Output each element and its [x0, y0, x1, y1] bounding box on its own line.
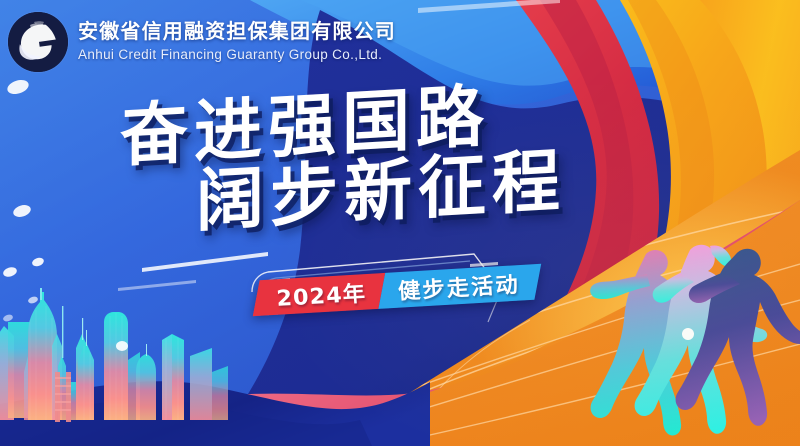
- company-name-en: Anhui Credit Financing Guaranty Group Co…: [78, 48, 396, 62]
- banner-activity-label: 健步走活动: [397, 267, 521, 306]
- event-poster: 安徽省信用融资担保集团有限公司 Anhui Credit Financing G…: [0, 0, 800, 446]
- anhui-guaranty-g-logo-icon: [8, 12, 68, 72]
- banner-year-label: 2024年: [275, 276, 366, 313]
- brand-lockup: 安徽省信用融资担保集团有限公司 Anhui Credit Financing G…: [8, 12, 396, 72]
- company-name-cn: 安徽省信用融资担保集团有限公司: [78, 22, 396, 42]
